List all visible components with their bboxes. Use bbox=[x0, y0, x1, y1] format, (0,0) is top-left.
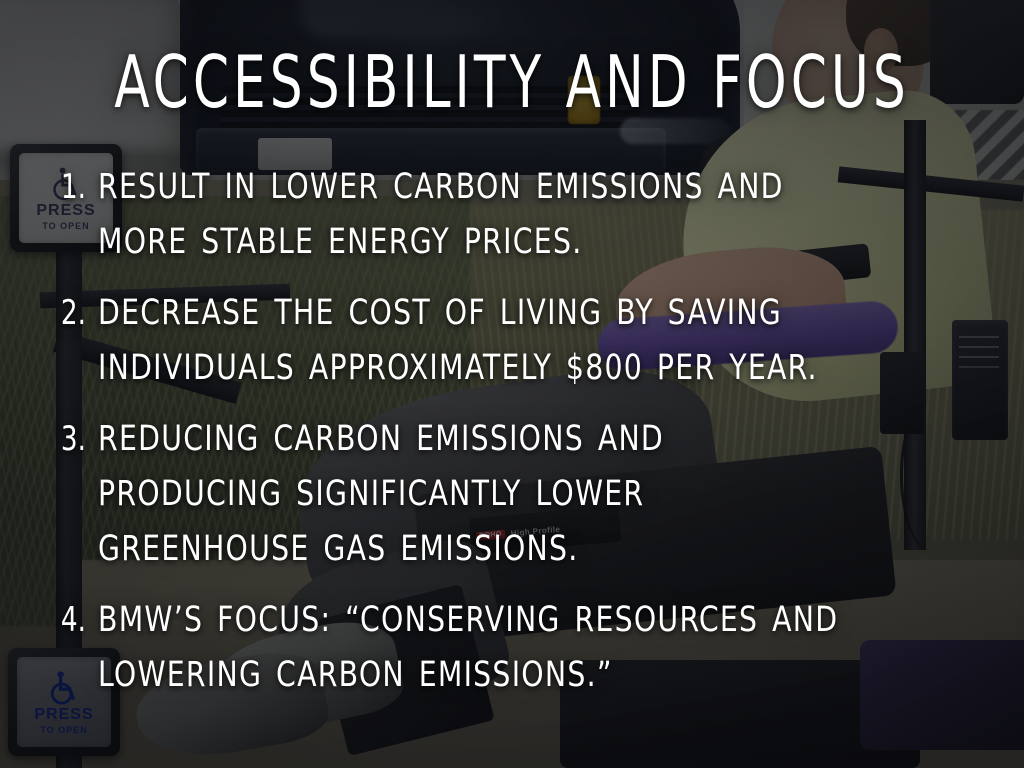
presentation-slide: ROHO High Profile PRESS bbox=[0, 0, 1024, 768]
list-item: 3. REDUCING CARBON EMISSIONS AND PRODUCI… bbox=[36, 412, 936, 577]
list-item-number: 4. bbox=[45, 593, 98, 648]
list-item-text: DECREASE THE COST OF LIVING BY SAVING IN… bbox=[98, 286, 852, 396]
numbered-list: 1. RESULT IN LOWER CARBON EMISSIONS AND … bbox=[36, 160, 936, 719]
list-item-number: 3. bbox=[45, 412, 98, 467]
list-item: 4. BMW’S FOCUS: “CONSERVING RESOURCES AN… bbox=[36, 593, 936, 703]
list-item-text: REDUCING CARBON EMISSIONS AND PRODUCING … bbox=[98, 412, 852, 577]
list-item-number: 1. bbox=[45, 160, 98, 215]
list-item-text: BMW’S FOCUS: “CONSERVING RESOURCES AND L… bbox=[98, 593, 852, 703]
list-item: 2. DECREASE THE COST OF LIVING BY SAVING… bbox=[36, 286, 936, 396]
slide-content: ACCESSIBILITY AND FOCUS 1. RESULT IN LOW… bbox=[0, 0, 1024, 768]
list-item-text: RESULT IN LOWER CARBON EMISSIONS AND MOR… bbox=[98, 160, 852, 270]
list-item: 1. RESULT IN LOWER CARBON EMISSIONS AND … bbox=[36, 160, 936, 270]
slide-title: ACCESSIBILITY AND FOCUS bbox=[102, 46, 921, 118]
list-item-number: 2. bbox=[45, 286, 98, 341]
